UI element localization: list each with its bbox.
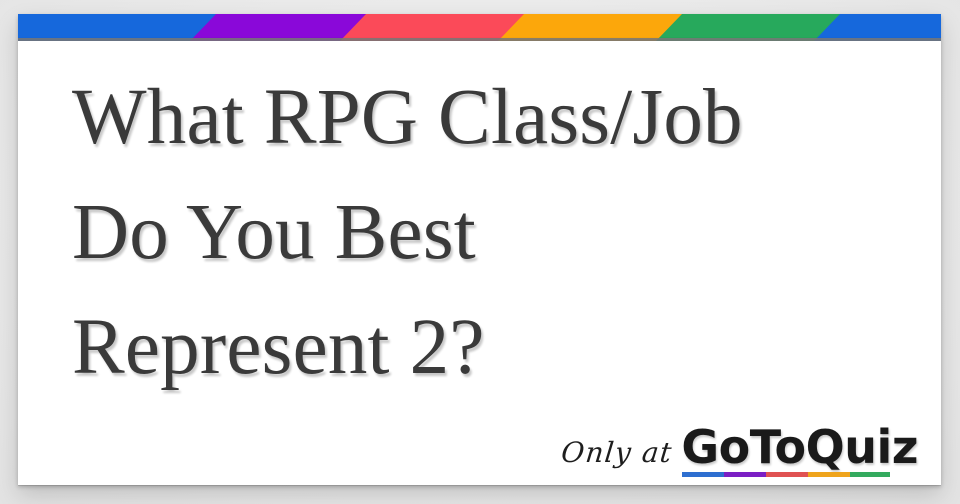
decorative-color-stripe	[18, 14, 941, 41]
gotoquiz-logo[interactable]: GoToQuiz	[681, 424, 918, 477]
rule-red	[766, 472, 808, 477]
gotoquiz-color-rule	[682, 472, 890, 477]
rule-purple	[724, 472, 766, 477]
page-title: What RPG Class/Job Do You Best Represent…	[72, 60, 902, 405]
gotoquiz-wordmark: GoToQuiz	[681, 424, 918, 470]
rule-orange	[808, 472, 850, 477]
rule-green	[850, 472, 890, 477]
page-root: What RPG Class/Job Do You Best Represent…	[0, 0, 960, 504]
brand-lockup: Only at GoToQuiz	[561, 424, 918, 477]
stripe-bottom-rule	[18, 38, 941, 41]
quiz-title-card: What RPG Class/Job Do You Best Represent…	[18, 14, 941, 485]
brand-only-at-label: Only at	[559, 436, 674, 477]
rule-blue	[682, 472, 724, 477]
